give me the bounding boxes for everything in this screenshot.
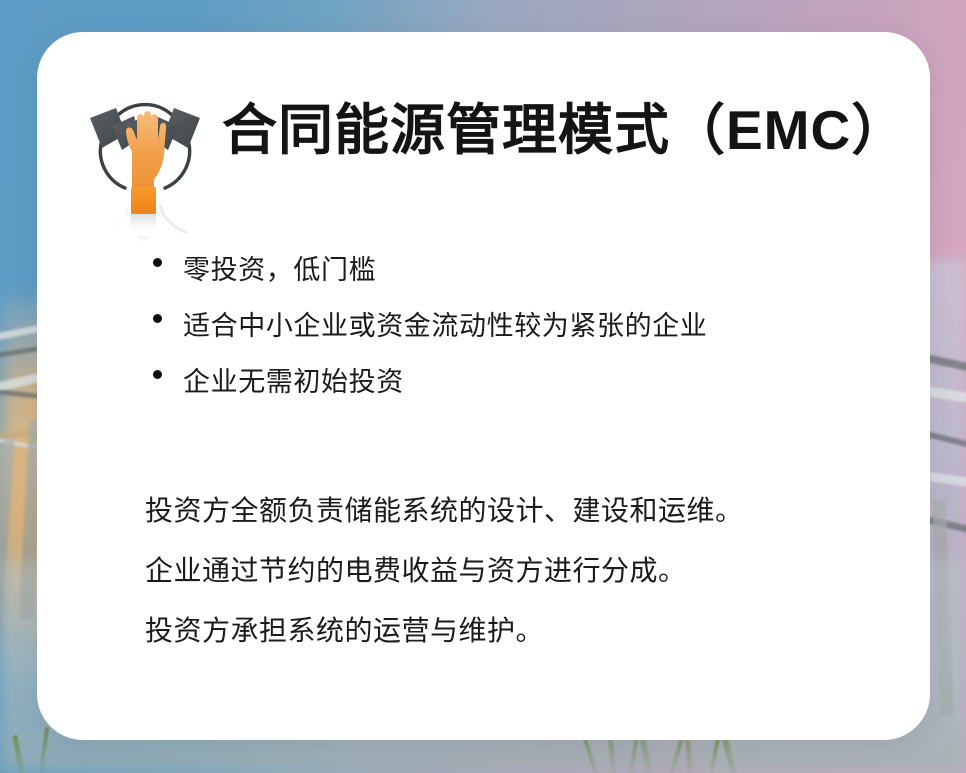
description-line: 企业通过节约的电费收益与资方进行分成。	[145, 554, 905, 588]
description-line: 投资方全额负责储能系统的设计、建设和运维。	[145, 494, 905, 528]
bullet-dot-icon	[153, 314, 162, 323]
list-item-label: 企业无需初始投资	[183, 367, 404, 397]
list-item: 企业无需初始投资	[145, 366, 885, 400]
feature-bullet-list: 零投资，低门槛 适合中小企业或资金流动性较为紧张的企业 企业无需初始投资	[145, 254, 885, 399]
list-item: 零投资，低门槛	[145, 254, 885, 288]
list-item-label: 适合中小企业或资金流动性较为紧张的企业	[183, 311, 707, 341]
page-title: 合同能源管理模式（EMC）	[222, 100, 907, 161]
description-block: 投资方全额负责储能系统的设计、建设和运维。 企业通过节约的电费收益与资方进行分成…	[145, 494, 905, 648]
content-card: 合同能源管理模式（EMC） 零投资，低门槛 适合中小企业或资金流动性较为紧张的企…	[37, 32, 930, 740]
bullet-dot-icon	[153, 370, 162, 379]
list-item: 适合中小企业或资金流动性较为紧张的企业	[145, 310, 885, 344]
teamwork-hands-icon	[82, 82, 208, 242]
bullet-dot-icon	[153, 258, 162, 267]
card-header: 合同能源管理模式（EMC）	[37, 76, 930, 246]
description-line: 投资方承担系统的运营与维护。	[145, 614, 905, 648]
list-item-label: 零投资，低门槛	[183, 255, 376, 285]
screenshot-root: 合同能源管理模式（EMC） 零投资，低门槛 适合中小企业或资金流动性较为紧张的企…	[0, 0, 966, 773]
